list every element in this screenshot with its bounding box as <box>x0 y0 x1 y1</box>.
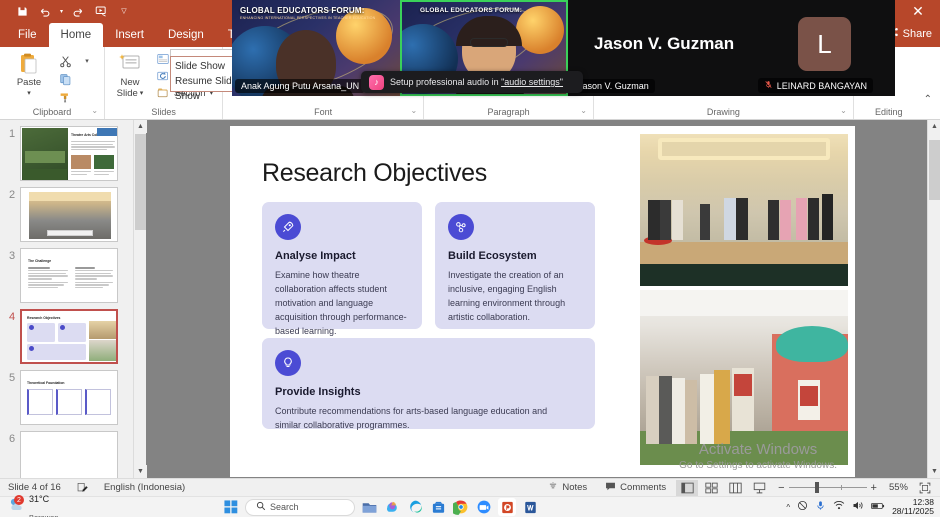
save-icon[interactable] <box>12 2 32 21</box>
self-participant-name: LEINARD BANGAYAN <box>777 81 867 91</box>
list-item[interactable]: 1 Theatre Arts Collaboration <box>0 120 145 181</box>
undo-icon[interactable] <box>35 2 55 21</box>
active-speaker-name: Jason V. Guzman <box>594 34 734 54</box>
zoom-knob[interactable] <box>815 482 819 493</box>
slide-sorter-view-button[interactable] <box>700 480 722 496</box>
weather-temperature: 31°C <box>29 494 49 504</box>
thumbnail-number: 3 <box>4 248 20 262</box>
notes-icon <box>548 481 558 494</box>
paste-button[interactable]: Paste ▾ <box>6 51 52 99</box>
active-speaker-chip: Jason V. Guzman <box>572 79 655 93</box>
ribbon-group-label-slides: Slides <box>111 105 216 119</box>
music-note-icon: ♪ <box>369 75 384 90</box>
thumbnail-number: 1 <box>4 126 20 140</box>
thumbnail-slide-1[interactable]: Theatre Arts Collaboration <box>20 126 118 181</box>
card-heading: Provide Insights <box>275 386 582 398</box>
list-item[interactable]: 2 <box>0 181 145 242</box>
list-item[interactable]: 6 <box>0 425 145 478</box>
paste-dropdown-icon[interactable]: ▾ <box>27 88 31 99</box>
card-body: Contribute recommendations for arts-base… <box>275 404 575 432</box>
customize-qat-icon[interactable]: ▽ <box>114 2 134 21</box>
store-icon[interactable] <box>429 498 447 516</box>
share-label: Share <box>903 28 932 40</box>
ribbon-group-label-drawing: Drawing⌄ <box>600 105 847 119</box>
chrome-icon[interactable] <box>452 498 470 516</box>
clock[interactable]: 12:38 28/11/2025 <box>892 498 934 517</box>
forum-banner-title: GLOBAL EDUCATORS FORUM: <box>240 6 394 15</box>
objective-card-1[interactable]: Analyse Impact Examine how theatre colla… <box>262 202 422 329</box>
slide-thumbnail-pane[interactable]: 1 Theatre Arts Collaboration 2 <box>0 120 146 478</box>
window-controls: ✕ <box>896 0 940 23</box>
thumbnail-number: 4 <box>4 309 20 323</box>
search-icon <box>256 501 266 513</box>
zoom-level-label[interactable]: 55% <box>885 482 912 493</box>
redo-icon[interactable] <box>68 2 88 21</box>
ribbon-group-clipboard: Paste ▾ ▾ <box>0 47 104 119</box>
scroll-down-icon[interactable]: ▼ <box>134 465 147 478</box>
mic-icon[interactable] <box>815 498 826 516</box>
section-icon <box>156 86 170 100</box>
show-hidden-icons[interactable]: ^ <box>786 503 790 512</box>
audio-settings-link[interactable]: "audio settings" <box>501 77 563 87</box>
language-indicator[interactable]: English (Indonesia) <box>96 482 193 493</box>
notification-badge: 2 <box>14 495 24 505</box>
list-item[interactable]: 4 Research Objectives <box>0 303 145 364</box>
slide-photo-2[interactable] <box>640 290 848 465</box>
slide-4[interactable]: Research Objectives Analyse Impact Exami… <box>230 126 855 477</box>
paste-label: Paste <box>17 77 41 88</box>
word-icon[interactable] <box>521 498 539 516</box>
slide-canvas-area[interactable]: Research Objectives Analyse Impact Exami… <box>146 120 927 478</box>
rocket-icon <box>275 214 301 240</box>
file-explorer-icon[interactable] <box>360 498 378 516</box>
status-bar-right: Notes Comments − <box>540 480 936 496</box>
collapse-ribbon-button[interactable]: ⌃ <box>924 47 940 119</box>
new-slide-label-2: Slide <box>117 88 138 99</box>
no-notification-icon[interactable] <box>797 498 808 516</box>
system-tray: ^ 12:38 28/11/2025 <box>786 498 934 517</box>
tab-home[interactable]: Home <box>49 23 104 47</box>
new-slide-label-1: New <box>120 77 139 88</box>
powerpoint-window: ▾ ▽ ✕ File Home Insert Design Transition… <box>0 0 940 517</box>
ribbon-group-label-paragraph: Paragraph⌄ <box>430 105 587 119</box>
notes-button[interactable]: Notes <box>540 481 595 494</box>
objective-card-3[interactable]: Provide Insights Contribute recommendati… <box>262 338 595 429</box>
drawing-dialog-launcher[interactable]: ⌄ <box>840 104 847 118</box>
thumbnail-number: 6 <box>4 431 20 445</box>
zoom-track[interactable] <box>789 487 867 488</box>
clock-time: 12:38 <box>913 497 934 507</box>
comment-icon <box>605 481 616 495</box>
self-participant-chip: LEINARD BANGAYAN <box>758 78 873 93</box>
ribbon-group-label-editing: Editing <box>860 105 918 119</box>
weather-icon: 2 <box>8 496 25 517</box>
paragraph-dialog-launcher[interactable]: ⌄ <box>580 104 587 118</box>
paste-icon <box>17 51 41 77</box>
list-item[interactable]: 3 The Challenge <box>0 242 145 303</box>
copy-icon[interactable] <box>56 71 74 87</box>
card-heading: Build Ecosystem <box>448 250 582 262</box>
network-icon <box>448 214 474 240</box>
cut-icon[interactable] <box>56 53 74 69</box>
tab-insert[interactable]: Insert <box>103 23 156 47</box>
thumbnail-slide-2[interactable] <box>20 187 118 242</box>
card-heading: Analyse Impact <box>275 250 409 262</box>
objective-card-2[interactable]: Build Ecosystem Investigate the creation… <box>435 202 595 329</box>
thumbnail-slide-3[interactable]: The Challenge <box>20 248 118 303</box>
wifi-icon[interactable] <box>833 498 845 516</box>
quick-access-toolbar: ▾ ▽ <box>0 2 134 21</box>
clock-date: 28/11/2025 <box>892 506 934 516</box>
reset-icon <box>156 69 170 83</box>
taskbar-center: Search <box>222 498 539 516</box>
status-bar: Slide 4 of 16 English (Indonesia) Notes … <box>0 478 940 496</box>
search-placeholder: Search <box>270 502 299 512</box>
audio-settings-toast[interactable]: ♪ Setup professional audio in "audio set… <box>361 71 583 93</box>
zoom-icon[interactable] <box>475 498 493 516</box>
canvas-scroll-down-icon[interactable]: ▼ <box>928 465 940 478</box>
ribbon-group-label-clipboard: Clipboard⌄ <box>6 105 98 119</box>
windows-taskbar: 2 31°C Berawan Search <box>0 496 940 517</box>
list-item[interactable]: 5 Theoretical Foundation <box>0 364 145 425</box>
edge-icon[interactable] <box>406 498 424 516</box>
clipboard-dialog-launcher[interactable]: ⌄ <box>91 104 98 118</box>
clipboard-options-dropdown-icon[interactable]: ▾ <box>78 53 96 69</box>
lightbulb-icon <box>275 350 301 376</box>
thumbnail-number: 5 <box>4 370 20 384</box>
toast-text: Setup professional audio in <box>390 77 501 87</box>
card-body: Examine how theatre collaboration affect… <box>275 268 409 338</box>
accessibility-checker-icon[interactable] <box>69 482 96 493</box>
thumbnail-slide-5[interactable]: Theoretical Foundation <box>20 370 118 425</box>
undo-dropdown-icon[interactable]: ▾ <box>58 2 65 21</box>
search-input[interactable]: Search <box>245 499 355 516</box>
layout-icon <box>156 52 170 66</box>
thumbnail-slide-6[interactable] <box>20 431 118 478</box>
avatar[interactable]: L <box>798 17 851 71</box>
zoom-out-button[interactable]: − <box>778 482 784 494</box>
format-painter-icon[interactable] <box>56 89 74 105</box>
forum-banner-title: GLOBAL EDUCATORS FORUM: <box>420 7 560 14</box>
card-body: Investigate the creation of an inclusive… <box>448 268 582 324</box>
copilot-icon[interactable] <box>383 498 401 516</box>
tab-design[interactable]: Design <box>156 23 216 47</box>
slide-show-view-button[interactable] <box>748 480 770 496</box>
canvas-scrollbar[interactable]: ▲ ▼ <box>927 120 940 478</box>
glasses <box>470 38 508 47</box>
battery-icon[interactable] <box>871 498 885 516</box>
zoom-in-button[interactable]: + <box>871 482 877 494</box>
comments-button[interactable]: Comments <box>597 481 674 495</box>
volume-icon[interactable] <box>852 498 864 516</box>
thumbnail-slide-4[interactable]: Research Objectives <box>20 309 118 364</box>
zoom-slider[interactable]: − + <box>772 482 883 494</box>
participant-name-label: Anak Agung Putu Arsana_UN <box>235 79 365 93</box>
weather-widget[interactable]: 2 31°C Berawan <box>0 489 59 517</box>
normal-view-button[interactable] <box>676 480 698 496</box>
start-presentation-icon[interactable] <box>91 2 111 21</box>
font-dialog-launcher[interactable]: ⌄ <box>410 104 417 118</box>
page-title: Research Objectives <box>262 159 487 188</box>
slide-photo-1[interactable] <box>640 134 848 286</box>
new-slide-dropdown-icon[interactable]: ▾ <box>140 88 144 99</box>
thumbnail-number: 2 <box>4 187 20 201</box>
powerpoint-icon[interactable] <box>498 498 516 516</box>
start-button[interactable] <box>222 498 240 516</box>
forum-banner-subtitle: ENHANCING INTERNATIONAL PERSPECTIVES IN … <box>240 16 394 20</box>
weather-description: Berawan <box>29 513 59 517</box>
close-icon[interactable]: ✕ <box>896 0 940 23</box>
reading-view-button[interactable] <box>724 480 746 496</box>
tab-file[interactable]: File <box>6 23 49 47</box>
scroll-up-icon[interactable]: ▲ <box>134 120 147 133</box>
new-slide-button[interactable]: New Slide ▾ <box>111 51 149 99</box>
fit-to-window-button[interactable] <box>914 480 936 496</box>
thumbnail-scrollbar[interactable]: ▲ ▼ <box>133 120 146 478</box>
avatar-initial: L <box>817 29 831 60</box>
share-button[interactable]: Share <box>889 27 932 40</box>
muted-mic-icon <box>764 80 773 91</box>
new-slide-icon <box>118 51 142 77</box>
canvas-scroll-up-icon[interactable]: ▲ <box>928 120 940 133</box>
ribbon-group-label-font: Font⌄ <box>229 105 417 119</box>
